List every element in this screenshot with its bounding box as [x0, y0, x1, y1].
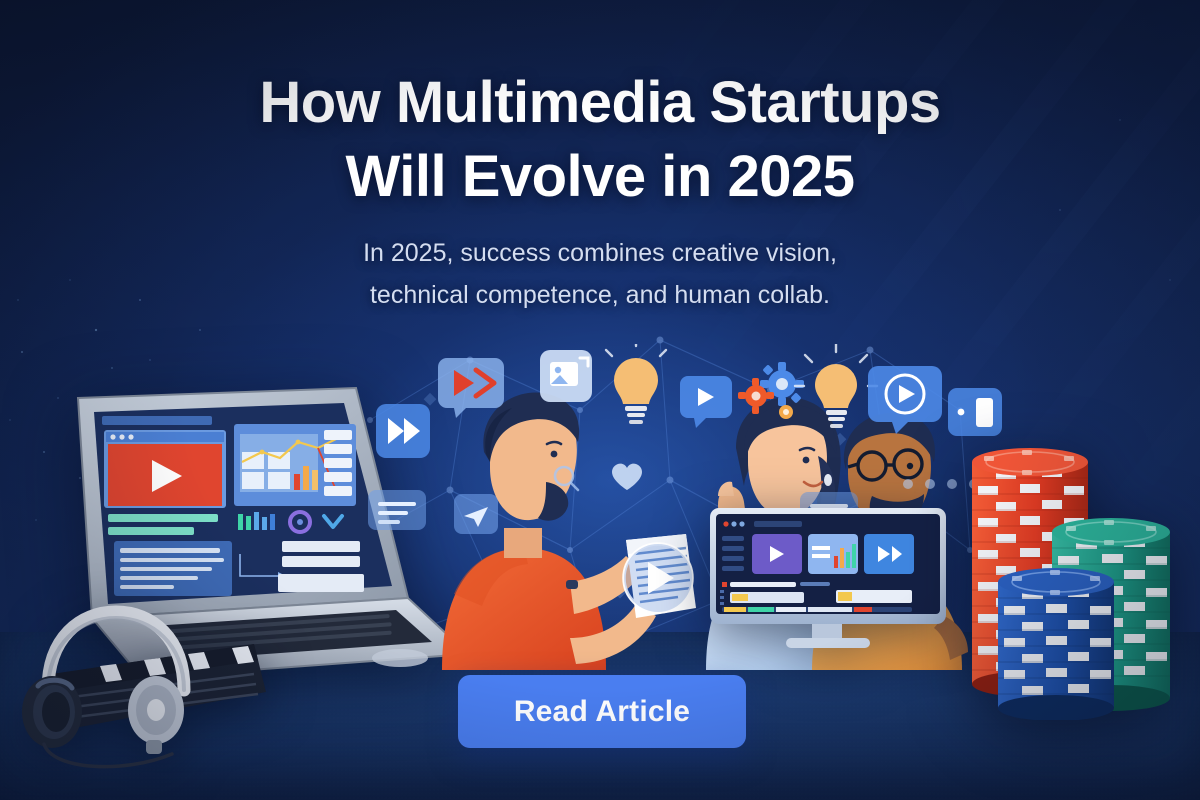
- gears-icon: [738, 362, 804, 419]
- text-lines-icon: [368, 490, 426, 530]
- poker-chip-stacks: [956, 424, 1200, 720]
- chip-stack-blue: [998, 568, 1114, 720]
- headphones-and-clapperboard: [4, 582, 274, 772]
- play-circle-icon: [624, 544, 692, 612]
- lightbulb-icon: [795, 344, 877, 428]
- read-article-button[interactable]: Read Article: [458, 675, 746, 748]
- gallery-image-icon: [540, 350, 592, 402]
- play-badge-icon: [680, 376, 732, 428]
- fast-forward-icon: [376, 404, 430, 458]
- page-title: How Multimedia Startups Will Evolve in 2…: [0, 66, 1200, 214]
- lightbulb-icon: [606, 344, 666, 424]
- play-badge-icon: [438, 358, 504, 418]
- title-line-1: How Multimedia Startups: [0, 66, 1200, 140]
- send-icon: [454, 494, 498, 534]
- subtitle-line-1: In 2025, success combines creative visio…: [0, 232, 1200, 274]
- title-line-2: Will Evolve in 2025: [0, 140, 1200, 214]
- hero-copy: How Multimedia Startups Will Evolve in 2…: [0, 66, 1200, 316]
- subtitle-line-2: technical competence, and human collab.: [0, 274, 1200, 316]
- hero-banner: How Multimedia Startups Will Evolve in 2…: [0, 0, 1200, 800]
- monitor-illustration: [706, 504, 950, 660]
- search-icon: [555, 467, 578, 490]
- play-circle-icon: [868, 366, 942, 434]
- heart-icon: [612, 464, 642, 490]
- page-subtitle: In 2025, success combines creative visio…: [0, 232, 1200, 316]
